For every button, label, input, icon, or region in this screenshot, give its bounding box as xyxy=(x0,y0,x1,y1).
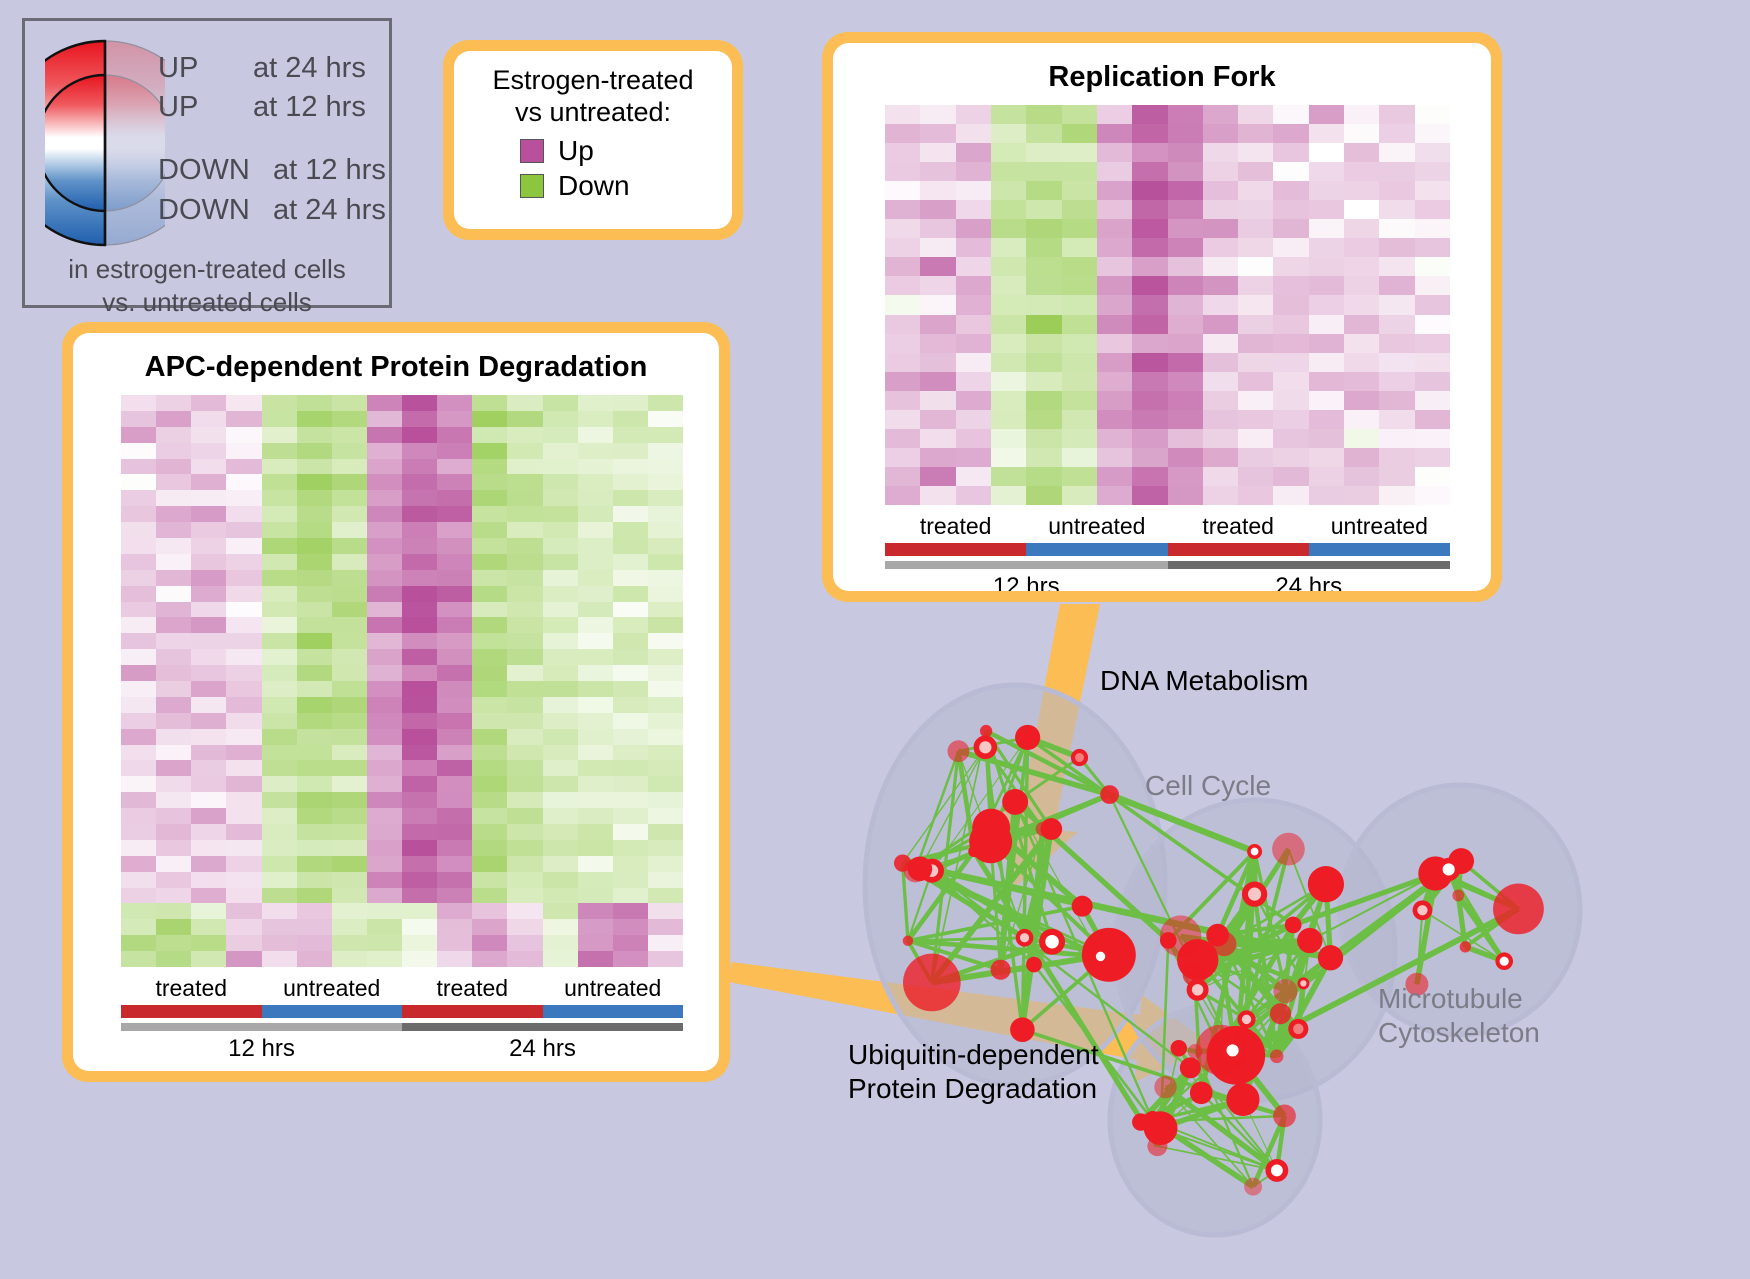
heatmap-cell xyxy=(543,935,578,951)
heatmap-cell xyxy=(1379,372,1414,391)
heatmap-cell xyxy=(613,760,648,776)
heatmap-cell xyxy=(121,506,156,522)
heatmap-cell xyxy=(613,681,648,697)
legend-title: Estrogen-treated vs untreated: xyxy=(472,65,714,129)
heatmap-cell xyxy=(191,665,226,681)
heatmap-cell xyxy=(1238,276,1273,295)
heatmap-cell xyxy=(262,776,297,792)
network-node xyxy=(1273,1104,1296,1127)
heatmap-cell xyxy=(1309,219,1344,238)
heatmap-cell xyxy=(578,824,613,840)
heatmap-cell xyxy=(472,554,507,570)
heatmap-cell xyxy=(1062,276,1097,295)
network-node xyxy=(1015,725,1040,750)
heatmap-cell xyxy=(578,395,613,411)
heatmap-cell xyxy=(332,411,367,427)
heatmap-cell xyxy=(507,935,542,951)
heatmap-cell xyxy=(920,143,955,162)
heatmap-cell xyxy=(297,840,332,856)
time-label-12hrs: 12 hrs xyxy=(885,573,1168,591)
heatmap-cell xyxy=(1097,162,1132,181)
heatmap-cell xyxy=(226,443,261,459)
heatmap-cell xyxy=(1203,448,1238,467)
heatmap-cell xyxy=(1203,200,1238,219)
heatmap-cell xyxy=(956,219,991,238)
heatmap-cell xyxy=(1203,391,1238,410)
heatmap-cell xyxy=(991,181,1026,200)
heatmap-cell xyxy=(226,872,261,888)
heatmap-cell xyxy=(885,448,920,467)
network-node xyxy=(1244,1178,1262,1196)
heatmap-cell xyxy=(885,257,920,276)
heatmap-cell xyxy=(121,554,156,570)
network-node-core xyxy=(1242,1015,1251,1024)
heatmap-cell xyxy=(437,808,472,824)
heatmap-cell xyxy=(226,506,261,522)
heatmap-cell xyxy=(1238,334,1273,353)
heatmap-cell xyxy=(1062,486,1097,505)
heatmap-cell xyxy=(920,429,955,448)
heatmap-cell xyxy=(507,888,542,904)
heatmap-cell xyxy=(648,808,683,824)
heatmap-cell xyxy=(1097,410,1132,429)
heatmap-cell xyxy=(1026,276,1061,295)
cluster-label-cell-cycle: Cell Cycle xyxy=(1145,770,1271,802)
network-node xyxy=(908,856,933,881)
heatmap-cell xyxy=(297,872,332,888)
heatmap-cell xyxy=(121,474,156,490)
heatmap-cell xyxy=(1273,486,1308,505)
heatmap-cell xyxy=(1097,276,1132,295)
heatmap-cell xyxy=(1026,219,1061,238)
heatmap-cell xyxy=(1168,143,1203,162)
heatmap-cell xyxy=(578,427,613,443)
heatmap-cell xyxy=(1238,448,1273,467)
heatmap-cell xyxy=(613,522,648,538)
heatmap-cell xyxy=(191,840,226,856)
network-node xyxy=(991,960,1011,980)
heatmap-cell xyxy=(297,903,332,919)
heatmap-cell xyxy=(332,474,367,490)
heatmap-cell xyxy=(332,713,367,729)
heatmap-cell xyxy=(991,276,1026,295)
heatmap-cell xyxy=(121,808,156,824)
heatmap-cell xyxy=(1344,105,1379,124)
network-node xyxy=(1226,1083,1259,1116)
heatmap-cell xyxy=(226,459,261,475)
heatmap-cell xyxy=(121,633,156,649)
heatmap-cell xyxy=(191,713,226,729)
heatmap-cell xyxy=(402,395,437,411)
heatmap-cell xyxy=(991,429,1026,448)
heatmap-cell xyxy=(1132,372,1167,391)
heatmap-cell xyxy=(507,856,542,872)
heatmap-cell xyxy=(226,602,261,618)
time-label-12hrs: 12 hrs xyxy=(121,1035,402,1063)
heatmap-cell xyxy=(920,105,955,124)
heatmap-cell xyxy=(437,935,472,951)
heatmap-cell xyxy=(1062,162,1097,181)
network-node xyxy=(1452,890,1464,902)
bar-treated-12 xyxy=(121,1005,262,1018)
heatmap-cell xyxy=(437,824,472,840)
heatmap-cell xyxy=(1309,315,1344,334)
network-node xyxy=(1072,896,1093,917)
heatmap-cell xyxy=(648,602,683,618)
heatmap-cell xyxy=(648,713,683,729)
heatmap-cell xyxy=(1238,105,1273,124)
heatmap-cell xyxy=(191,427,226,443)
heatmap-cell xyxy=(1026,315,1061,334)
heatmap-cell xyxy=(648,570,683,586)
heatmap-cell xyxy=(121,570,156,586)
heatmap-cell xyxy=(367,490,402,506)
group-label-treated-24: treated xyxy=(1168,513,1309,540)
heatmap-cell xyxy=(1168,238,1203,257)
heatmap-cell xyxy=(156,649,191,665)
heatmap-cell xyxy=(297,538,332,554)
heatmap-cell xyxy=(543,888,578,904)
heatmap-cell xyxy=(578,903,613,919)
heatmap-cell xyxy=(262,681,297,697)
heatmap-cell xyxy=(297,935,332,951)
network-node xyxy=(1002,789,1028,815)
heatmap-cell xyxy=(1415,276,1450,295)
heatmap-cell xyxy=(297,919,332,935)
heatmap-cell xyxy=(1132,124,1167,143)
heatmap-cell xyxy=(156,935,191,951)
heatmap-cell xyxy=(1415,143,1450,162)
heatmap-cell xyxy=(402,681,437,697)
heatmap-cell xyxy=(648,935,683,951)
heatmap-cell xyxy=(1097,143,1132,162)
heatmap-cell xyxy=(613,633,648,649)
heatmap-cell xyxy=(1132,334,1167,353)
heatmap-cell xyxy=(1062,315,1097,334)
heatmap-cell xyxy=(367,538,402,554)
heatmap-cell xyxy=(1273,429,1308,448)
heatmap-cell xyxy=(991,467,1026,486)
heatmap-cell xyxy=(991,372,1026,391)
heatmap-cell xyxy=(1238,200,1273,219)
heatmap-cell xyxy=(402,808,437,824)
heatmap-cell xyxy=(472,506,507,522)
heatmap-cell xyxy=(297,490,332,506)
heatmap-cell xyxy=(226,903,261,919)
heatmap-cell xyxy=(191,903,226,919)
heatmap-cell xyxy=(121,522,156,538)
bar-untreated-12 xyxy=(1026,543,1167,556)
heatmap-cell xyxy=(648,792,683,808)
replication-fork-title: Replication Fork xyxy=(833,61,1491,94)
heatmap-cell xyxy=(578,808,613,824)
heatmap-cell xyxy=(121,745,156,761)
heatmap-cell xyxy=(437,649,472,665)
heatmap-cell xyxy=(367,697,402,713)
heatmap-cell xyxy=(1203,372,1238,391)
heatmap-cell xyxy=(1344,181,1379,200)
network-node-core xyxy=(1443,863,1455,875)
heatmap-cell xyxy=(226,617,261,633)
group-label-untreated-12: untreated xyxy=(1026,513,1167,540)
heatmap-cell xyxy=(191,729,226,745)
heatmap-cell xyxy=(1415,486,1450,505)
heatmap-cell xyxy=(1062,372,1097,391)
heatmap-cell xyxy=(991,353,1026,372)
heatmap-cell xyxy=(367,649,402,665)
heatmap-cell xyxy=(648,919,683,935)
heatmap-cell xyxy=(402,459,437,475)
heatmap-cell xyxy=(297,729,332,745)
heatmap-cell xyxy=(1379,276,1414,295)
heatmap-cell xyxy=(578,729,613,745)
heatmap-cell xyxy=(991,315,1026,334)
heatmap-cell xyxy=(402,888,437,904)
heatmap-cell xyxy=(991,410,1026,429)
heatmap-cell xyxy=(956,410,991,429)
heatmap-cell xyxy=(543,856,578,872)
key-time-down-24: at 24 hrs xyxy=(273,194,386,227)
heatmap-cell xyxy=(472,729,507,745)
heatmap-cell xyxy=(1344,276,1379,295)
heatmap-cell xyxy=(191,951,226,967)
heatmap-cell xyxy=(1062,105,1097,124)
heatmap-cell xyxy=(262,617,297,633)
heatmap-cell xyxy=(156,856,191,872)
heatmap-cell xyxy=(402,824,437,840)
heatmap-cell xyxy=(920,257,955,276)
heatmap-cell xyxy=(297,427,332,443)
heatmap-cell xyxy=(262,586,297,602)
heatmap-cell xyxy=(332,792,367,808)
heatmap-cell xyxy=(648,745,683,761)
heatmap-cell xyxy=(613,745,648,761)
heatmap-cell xyxy=(1273,467,1308,486)
heatmap-cell xyxy=(437,506,472,522)
heatmap-cell xyxy=(191,617,226,633)
heatmap-cell xyxy=(156,474,191,490)
heatmap-cell xyxy=(648,411,683,427)
heatmap-cell xyxy=(402,538,437,554)
heatmap-cell xyxy=(367,411,402,427)
heatmap-cell xyxy=(437,459,472,475)
heatmap-cell xyxy=(507,395,542,411)
heatmap-cell xyxy=(1379,295,1414,314)
heatmap-cell xyxy=(1062,429,1097,448)
heatmap-cell xyxy=(437,570,472,586)
heatmap-cell xyxy=(332,617,367,633)
heatmap-cell xyxy=(578,474,613,490)
heatmap-cell xyxy=(226,856,261,872)
heatmap-cell xyxy=(191,570,226,586)
heatmap-cell xyxy=(437,443,472,459)
heatmap-cell xyxy=(507,506,542,522)
heatmap-cell xyxy=(367,935,402,951)
heatmap-cell xyxy=(648,760,683,776)
heatmap-cell xyxy=(543,840,578,856)
heatmap-cell xyxy=(507,792,542,808)
heatmap-cell xyxy=(648,903,683,919)
expression-key-box: UP at 24 hrs UP at 12 hrs DOWN at 12 hrs… xyxy=(22,18,392,308)
heatmap-cell xyxy=(507,697,542,713)
heatmap-cell xyxy=(507,649,542,665)
legend-item-down: Down xyxy=(520,170,714,202)
heatmap-cell xyxy=(543,459,578,475)
heatmap-cell xyxy=(613,903,648,919)
bar-untreated-12 xyxy=(262,1005,403,1018)
heatmap-cell xyxy=(543,713,578,729)
heatmap-cell xyxy=(297,888,332,904)
heatmap-cell xyxy=(297,760,332,776)
heatmap-cell xyxy=(402,522,437,538)
heatmap-cell xyxy=(262,808,297,824)
heatmap-cell xyxy=(1238,372,1273,391)
heatmap-cell xyxy=(367,808,402,824)
heatmap-cell xyxy=(472,617,507,633)
network-node-core xyxy=(1251,848,1259,856)
heatmap-cell xyxy=(1379,429,1414,448)
heatmap-cell xyxy=(402,570,437,586)
heatmap-cell xyxy=(191,506,226,522)
heatmap-cell xyxy=(191,776,226,792)
heatmap-cell xyxy=(1026,448,1061,467)
heatmap-cell xyxy=(1203,124,1238,143)
heatmap-cell xyxy=(1168,105,1203,124)
heatmap-cell xyxy=(472,903,507,919)
heatmap-cell xyxy=(1026,162,1061,181)
heatmap-cell xyxy=(1415,124,1450,143)
network-node-core xyxy=(1500,957,1509,966)
cluster-label-dna-metabolism: DNA Metabolism xyxy=(1100,665,1309,697)
heatmap-cell xyxy=(437,888,472,904)
heatmap-cell xyxy=(578,443,613,459)
heatmap-cell xyxy=(332,935,367,951)
heatmap-cell xyxy=(1026,410,1061,429)
network-node xyxy=(1227,1028,1238,1039)
heatmap-cell xyxy=(262,713,297,729)
heatmap-cell xyxy=(956,295,991,314)
heatmap-cell xyxy=(885,334,920,353)
heatmap-cell xyxy=(1273,238,1308,257)
heatmap-cell xyxy=(437,919,472,935)
heatmap-cell xyxy=(402,729,437,745)
heatmap-cell xyxy=(121,935,156,951)
heatmap-cell xyxy=(991,334,1026,353)
heatmap-cell xyxy=(1238,219,1273,238)
heatmap-cell xyxy=(507,602,542,618)
heatmap-cell xyxy=(332,856,367,872)
heatmap-cell xyxy=(191,856,226,872)
heatmap-cell xyxy=(1379,238,1414,257)
heatmap-cell xyxy=(191,474,226,490)
heatmap-cell xyxy=(1238,467,1273,486)
heatmap-cell xyxy=(1203,467,1238,486)
heatmap-cell xyxy=(226,697,261,713)
heatmap-cell xyxy=(1309,429,1344,448)
heatmap-cell xyxy=(121,729,156,745)
heatmap-cell xyxy=(191,395,226,411)
heatmap-cell xyxy=(991,295,1026,314)
legend-title-line2: vs untreated: xyxy=(472,97,714,129)
heatmap-cell xyxy=(437,474,472,490)
heatmap-cell xyxy=(543,490,578,506)
heatmap-cell xyxy=(1379,162,1414,181)
heatmap-cell xyxy=(156,459,191,475)
heatmap-cell xyxy=(402,840,437,856)
heatmap-cell xyxy=(1238,486,1273,505)
heatmap-cell xyxy=(262,935,297,951)
heatmap-cell xyxy=(956,181,991,200)
heatmap-cell xyxy=(437,522,472,538)
heatmap-cell xyxy=(956,372,991,391)
heatmap-cell xyxy=(437,840,472,856)
heatmap-cell xyxy=(1344,315,1379,334)
heatmap-cell xyxy=(437,554,472,570)
heatmap-cell xyxy=(1168,448,1203,467)
heatmap-cell xyxy=(437,427,472,443)
network-node-core xyxy=(1300,980,1306,986)
heatmap-cell xyxy=(262,760,297,776)
heatmap-cell xyxy=(402,443,437,459)
heatmap-cell xyxy=(262,411,297,427)
heatmap-cell xyxy=(262,888,297,904)
heatmap-cell xyxy=(297,745,332,761)
heatmap-cell xyxy=(507,538,542,554)
heatmap-cell xyxy=(1415,315,1450,334)
heatmap-cell xyxy=(1238,295,1273,314)
heatmap-cell xyxy=(1344,200,1379,219)
heatmap-cell xyxy=(578,602,613,618)
network-node xyxy=(1154,1076,1176,1098)
heatmap-cell xyxy=(402,713,437,729)
heatmap-cell xyxy=(191,649,226,665)
heatmap-cell xyxy=(1062,257,1097,276)
heatmap-cell xyxy=(472,427,507,443)
heatmap-cell xyxy=(1132,448,1167,467)
heatmap-cell xyxy=(332,443,367,459)
heatmap-cell xyxy=(920,276,955,295)
heatmap-cell xyxy=(156,506,191,522)
heatmap-cell xyxy=(367,919,402,935)
heatmap-cell xyxy=(121,602,156,618)
up-down-circle-key-icon xyxy=(45,33,165,253)
heatmap-cell xyxy=(472,681,507,697)
heatmap-cell xyxy=(1379,315,1414,334)
replication-treatment-bar xyxy=(885,543,1450,556)
heatmap-cell xyxy=(156,633,191,649)
heatmap-cell xyxy=(613,872,648,888)
heatmap-cell xyxy=(226,919,261,935)
heatmap-cell xyxy=(543,474,578,490)
heatmap-cell xyxy=(367,951,402,967)
heatmap-cell xyxy=(507,824,542,840)
heatmap-cell xyxy=(437,602,472,618)
apc-degradation-panel: APC-dependent Protein Degradation treate… xyxy=(62,322,730,1082)
heatmap-cell xyxy=(613,713,648,729)
heatmap-cell xyxy=(920,238,955,257)
heatmap-cell xyxy=(191,792,226,808)
heatmap-cell xyxy=(402,856,437,872)
heatmap-cell xyxy=(1132,200,1167,219)
heatmap-cell xyxy=(226,745,261,761)
heatmap-cell xyxy=(156,951,191,967)
heatmap-cell xyxy=(578,697,613,713)
heatmap-cell xyxy=(437,538,472,554)
heatmap-cell xyxy=(297,824,332,840)
network-node xyxy=(1171,1040,1188,1057)
heatmap-cell xyxy=(262,697,297,713)
heatmap-cell xyxy=(472,459,507,475)
